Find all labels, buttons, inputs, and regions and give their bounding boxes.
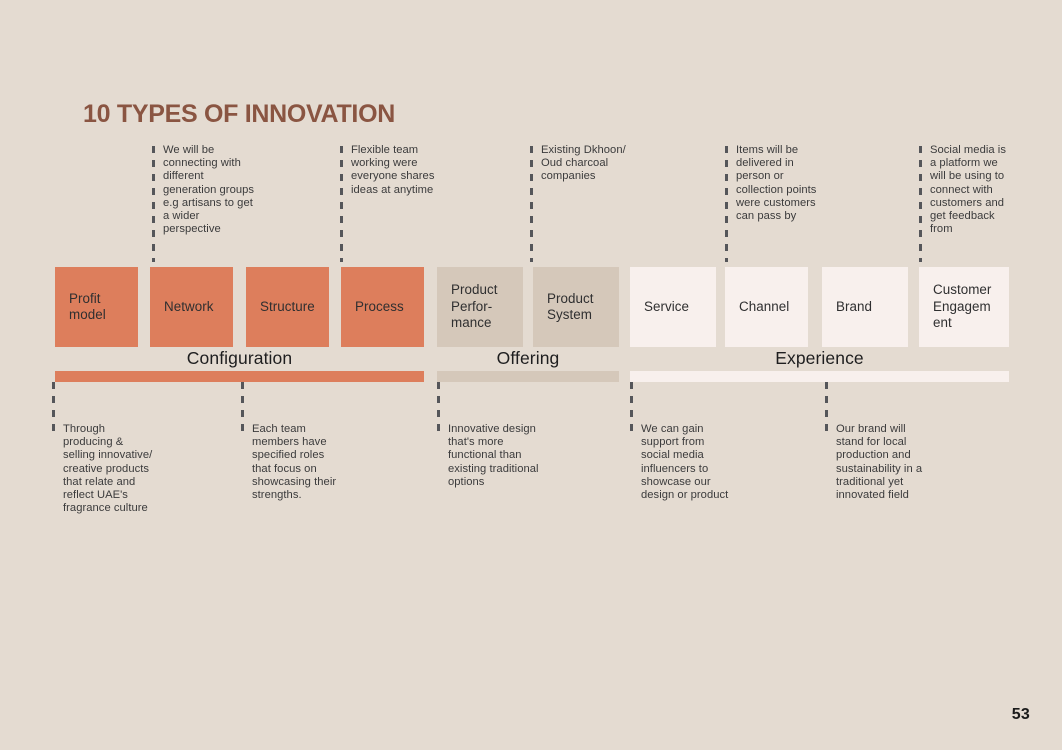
innovation-type-box-profit-model[interactable]: Profit model [55, 267, 138, 347]
connector-dash-top-5 [919, 146, 922, 262]
innovation-type-box-process[interactable]: Process [341, 267, 424, 347]
category-label-experience: Experience [630, 348, 1009, 369]
innovation-type-box-product-system[interactable]: Product System [533, 267, 619, 347]
innovation-type-box-channel[interactable]: Channel [725, 267, 808, 347]
connector-dash-top-2 [340, 146, 343, 262]
annotation-bottom-2: Each team members have specified roles t… [252, 423, 336, 502]
annotation-bottom-4: We can gain support from social media in… [641, 423, 728, 502]
annotation-top-2: Flexible team working were everyone shar… [351, 144, 434, 197]
connector-dash-bottom-3 [437, 382, 440, 437]
innovation-type-box-service[interactable]: Service [630, 267, 716, 347]
category-bar-offering [437, 371, 619, 382]
category-label-offering: Offering [437, 348, 619, 369]
connector-dash-top-1 [152, 146, 155, 262]
innovation-type-box-network[interactable]: Network [150, 267, 233, 347]
connector-dash-bottom-5 [825, 382, 828, 437]
annotation-bottom-1: Through producing & selling innovative/ … [63, 423, 152, 515]
slide-canvas: 10 TYPES OF INNOVATION We will be connec… [0, 0, 1062, 750]
category-bar-experience [630, 371, 1009, 382]
innovation-type-box-customer-engagem-ent[interactable]: Customer Engagem ent [919, 267, 1009, 347]
annotation-top-3: Existing Dkhoon/ Oud charcoal companies [541, 144, 626, 184]
annotation-top-1: We will be connecting with different gen… [163, 144, 254, 236]
annotation-bottom-5: Our brand will stand for local productio… [836, 423, 922, 502]
annotation-top-4: Items will be delivered in person or col… [736, 144, 816, 223]
connector-dash-top-3 [530, 146, 533, 262]
connector-dash-bottom-1 [52, 382, 55, 437]
connector-dash-bottom-4 [630, 382, 633, 437]
connector-dash-top-4 [725, 146, 728, 262]
page-number: 53 [1012, 706, 1030, 724]
innovation-type-box-brand[interactable]: Brand [822, 267, 908, 347]
page-title: 10 TYPES OF INNOVATION [83, 100, 395, 129]
category-bar-configuration [55, 371, 424, 382]
connector-dash-bottom-2 [241, 382, 244, 437]
annotation-bottom-3: Innovative design that's more functional… [448, 423, 539, 489]
innovation-type-box-product-perfor-mance[interactable]: Product Perfor- mance [437, 267, 523, 347]
innovation-type-box-structure[interactable]: Structure [246, 267, 329, 347]
category-label-configuration: Configuration [55, 348, 424, 369]
annotation-top-5: Social media is a platform we will be us… [930, 144, 1006, 236]
